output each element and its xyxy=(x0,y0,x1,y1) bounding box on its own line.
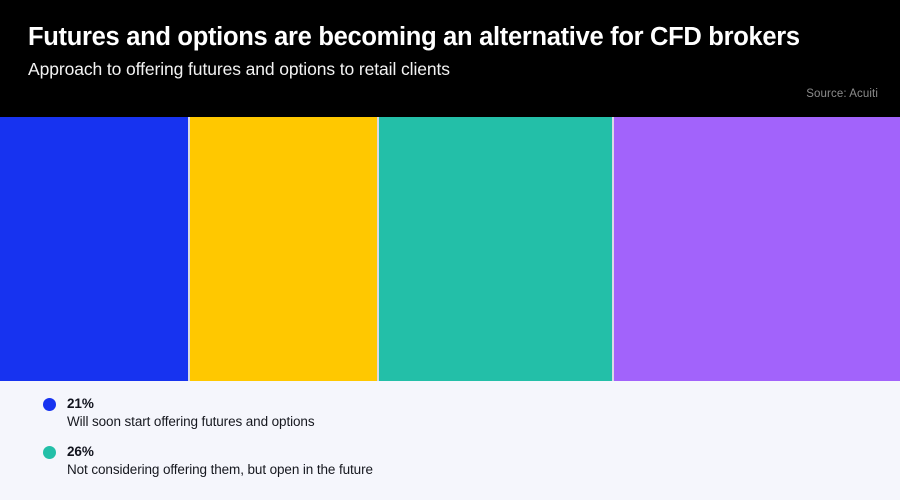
bar-segment-0 xyxy=(0,117,188,381)
page-title: Futures and options are becoming an alte… xyxy=(28,22,900,52)
bar-segment-3 xyxy=(614,117,900,381)
legend-value-2: 26% xyxy=(67,443,373,460)
legend-item-2: 26% Not considering offering them, but o… xyxy=(0,443,450,480)
legend-text-0: 21% Will soon start offering futures and… xyxy=(67,395,315,432)
source-attribution: Source: Acuiti xyxy=(806,88,878,100)
legend-item-1: 21% Considering offering them xyxy=(450,395,900,432)
infographic-chart: Futures and options are becoming an alte… xyxy=(0,0,900,500)
stacked-bar-chart xyxy=(0,117,900,381)
legend-value-0: 21% xyxy=(67,395,315,412)
legend-item-0: 21% Will soon start offering futures and… xyxy=(0,395,450,432)
legend-dot-icon-0 xyxy=(43,398,56,411)
legend-dot-icon-2 xyxy=(43,446,56,459)
bar-segment-1 xyxy=(190,117,378,381)
legend-label-2: Not considering offering them, but open … xyxy=(67,460,373,480)
legend-item-3: 32% Not considering offering them and no… xyxy=(450,443,900,480)
chart-legend: 21% Will soon start offering futures and… xyxy=(0,381,900,500)
legend-label-0: Will soon start offering futures and opt… xyxy=(67,412,315,432)
bar-segment-2 xyxy=(379,117,611,381)
chart-header: Futures and options are becoming an alte… xyxy=(0,0,900,117)
legend-text-2: 26% Not considering offering them, but o… xyxy=(67,443,373,480)
chart-subtitle: Approach to offering futures and options… xyxy=(28,58,900,80)
